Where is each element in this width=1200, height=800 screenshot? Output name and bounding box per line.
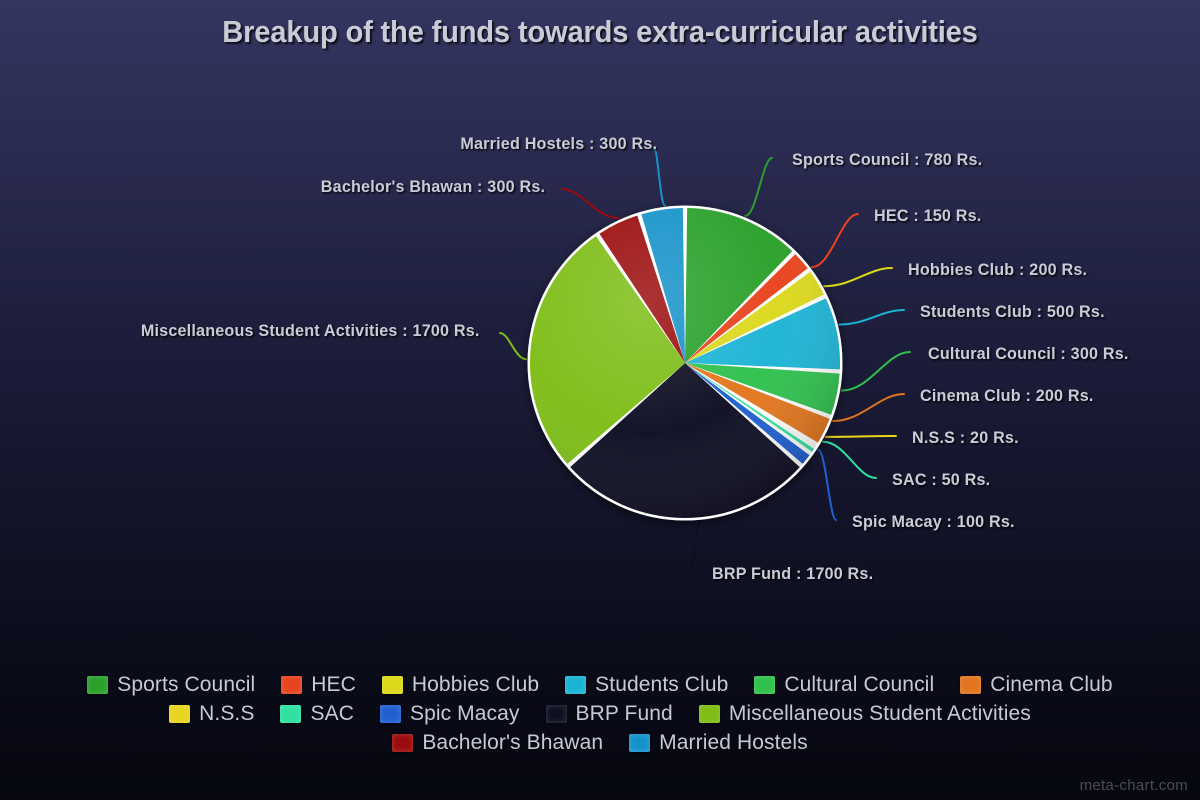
- legend-item-hec[interactable]: HEC: [281, 670, 356, 699]
- chart-canvas: Breakup of the funds towards extra-curri…: [0, 0, 1200, 800]
- legend-item-sports-council[interactable]: Sports Council: [87, 670, 255, 699]
- legend-item-label: Sports Council: [117, 673, 255, 697]
- legend-swatch-icon: [281, 676, 302, 694]
- legend-item-label: Students Club: [595, 673, 728, 697]
- legend-item-label: BRP Fund: [576, 702, 673, 726]
- legend-item-label: Spic Macay: [410, 702, 520, 726]
- legend-swatch-icon: [380, 705, 401, 723]
- legend-item-label: SAC: [310, 702, 353, 726]
- legend-item-students-club[interactable]: Students Club: [565, 670, 728, 699]
- legend-swatch-icon: [754, 676, 775, 694]
- legend-item-cultural-council[interactable]: Cultural Council: [754, 670, 934, 699]
- callout-label-nss: N.S.S : 20 Rs.: [912, 428, 1019, 448]
- callout-label-hec: HEC : 150 Rs.: [874, 206, 981, 226]
- callout-label-misc-student: Miscellaneous Student Activities : 1700 …: [141, 321, 480, 341]
- callout-label-cultural-council: Cultural Council : 300 Rs.: [928, 344, 1129, 364]
- callout-label-cinema-club: Cinema Club : 200 Rs.: [920, 386, 1094, 406]
- legend-item-label: N.S.S: [199, 702, 254, 726]
- legend-swatch-icon: [699, 705, 720, 723]
- callout-label-hobbies-club: Hobbies Club : 200 Rs.: [908, 260, 1087, 280]
- leader-line-cultural-council: [842, 352, 910, 391]
- legend-item-bachelor-s-bhawan[interactable]: Bachelor's Bhawan: [392, 728, 603, 757]
- callout-label-married-hostels: Married Hostels : 300 Rs.: [460, 134, 657, 154]
- legend-item-cinema-club[interactable]: Cinema Club: [960, 670, 1113, 699]
- legend-swatch-icon: [392, 734, 413, 752]
- legend-swatch-icon: [546, 705, 567, 723]
- leader-line-hobbies-club: [824, 268, 892, 286]
- leader-line-cinema-club: [833, 394, 904, 421]
- leader-line-nss: [826, 436, 896, 437]
- legend-item-married-hostels[interactable]: Married Hostels: [629, 728, 808, 757]
- legend-swatch-icon: [629, 734, 650, 752]
- legend-swatch-icon: [169, 705, 190, 723]
- callout-label-students-club: Students Club : 500 Rs.: [920, 302, 1105, 322]
- leader-line-sac: [823, 442, 876, 478]
- legend-swatch-icon: [382, 676, 403, 694]
- legend-item-spic-macay[interactable]: Spic Macay: [380, 699, 520, 728]
- leader-line-bachelors-bhawan: [562, 189, 619, 218]
- legend-swatch-icon: [960, 676, 981, 694]
- legend-swatch-icon: [565, 676, 586, 694]
- leader-line-misc-student: [500, 333, 526, 359]
- leader-line-spic-macay: [818, 450, 836, 520]
- legend-item-label: Cultural Council: [784, 673, 934, 697]
- callout-label-spic-macay: Spic Macay : 100 Rs.: [852, 512, 1015, 532]
- legend-item-label: Bachelor's Bhawan: [422, 731, 603, 755]
- watermark: meta-chart.com: [1080, 777, 1188, 794]
- legend-item-label: Miscellaneous Student Activities: [729, 702, 1031, 726]
- callout-label-brp-fund: BRP Fund : 1700 Rs.: [712, 564, 873, 584]
- legend-item-label: HEC: [311, 673, 356, 697]
- pie-slices-group: Sports Council : 780 Rs.HEC : 150 Rs.Hob…: [528, 206, 843, 521]
- callout-label-sports-council: Sports Council : 780 Rs.: [792, 150, 982, 170]
- legend-item-label: Hobbies Club: [412, 673, 539, 697]
- legend-item-brp-fund[interactable]: BRP Fund: [546, 699, 673, 728]
- callout-label-bachelors-bhawan: Bachelor's Bhawan : 300 Rs.: [321, 177, 545, 197]
- leader-line-hec: [812, 214, 858, 267]
- legend-item-hobbies-club[interactable]: Hobbies Club: [382, 670, 539, 699]
- leader-line-sports-council: [745, 158, 772, 216]
- leader-line-brp-fund: [690, 521, 701, 572]
- leader-line-students-club: [839, 310, 904, 325]
- legend-item-n-s-s[interactable]: N.S.S: [169, 699, 254, 728]
- legend-swatch-icon: [280, 705, 301, 723]
- legend-item-label: Married Hostels: [659, 731, 808, 755]
- legend-item-miscellaneous-student-activities[interactable]: Miscellaneous Student Activities: [699, 699, 1031, 728]
- legend-item-label: Cinema Club: [990, 673, 1113, 697]
- leader-line-married-hostels: [654, 148, 665, 205]
- legend-swatch-icon: [87, 676, 108, 694]
- chart-legend: Sports CouncilHECHobbies ClubStudents Cl…: [0, 670, 1200, 757]
- callout-label-sac: SAC : 50 Rs.: [892, 470, 990, 490]
- legend-item-sac[interactable]: SAC: [280, 699, 353, 728]
